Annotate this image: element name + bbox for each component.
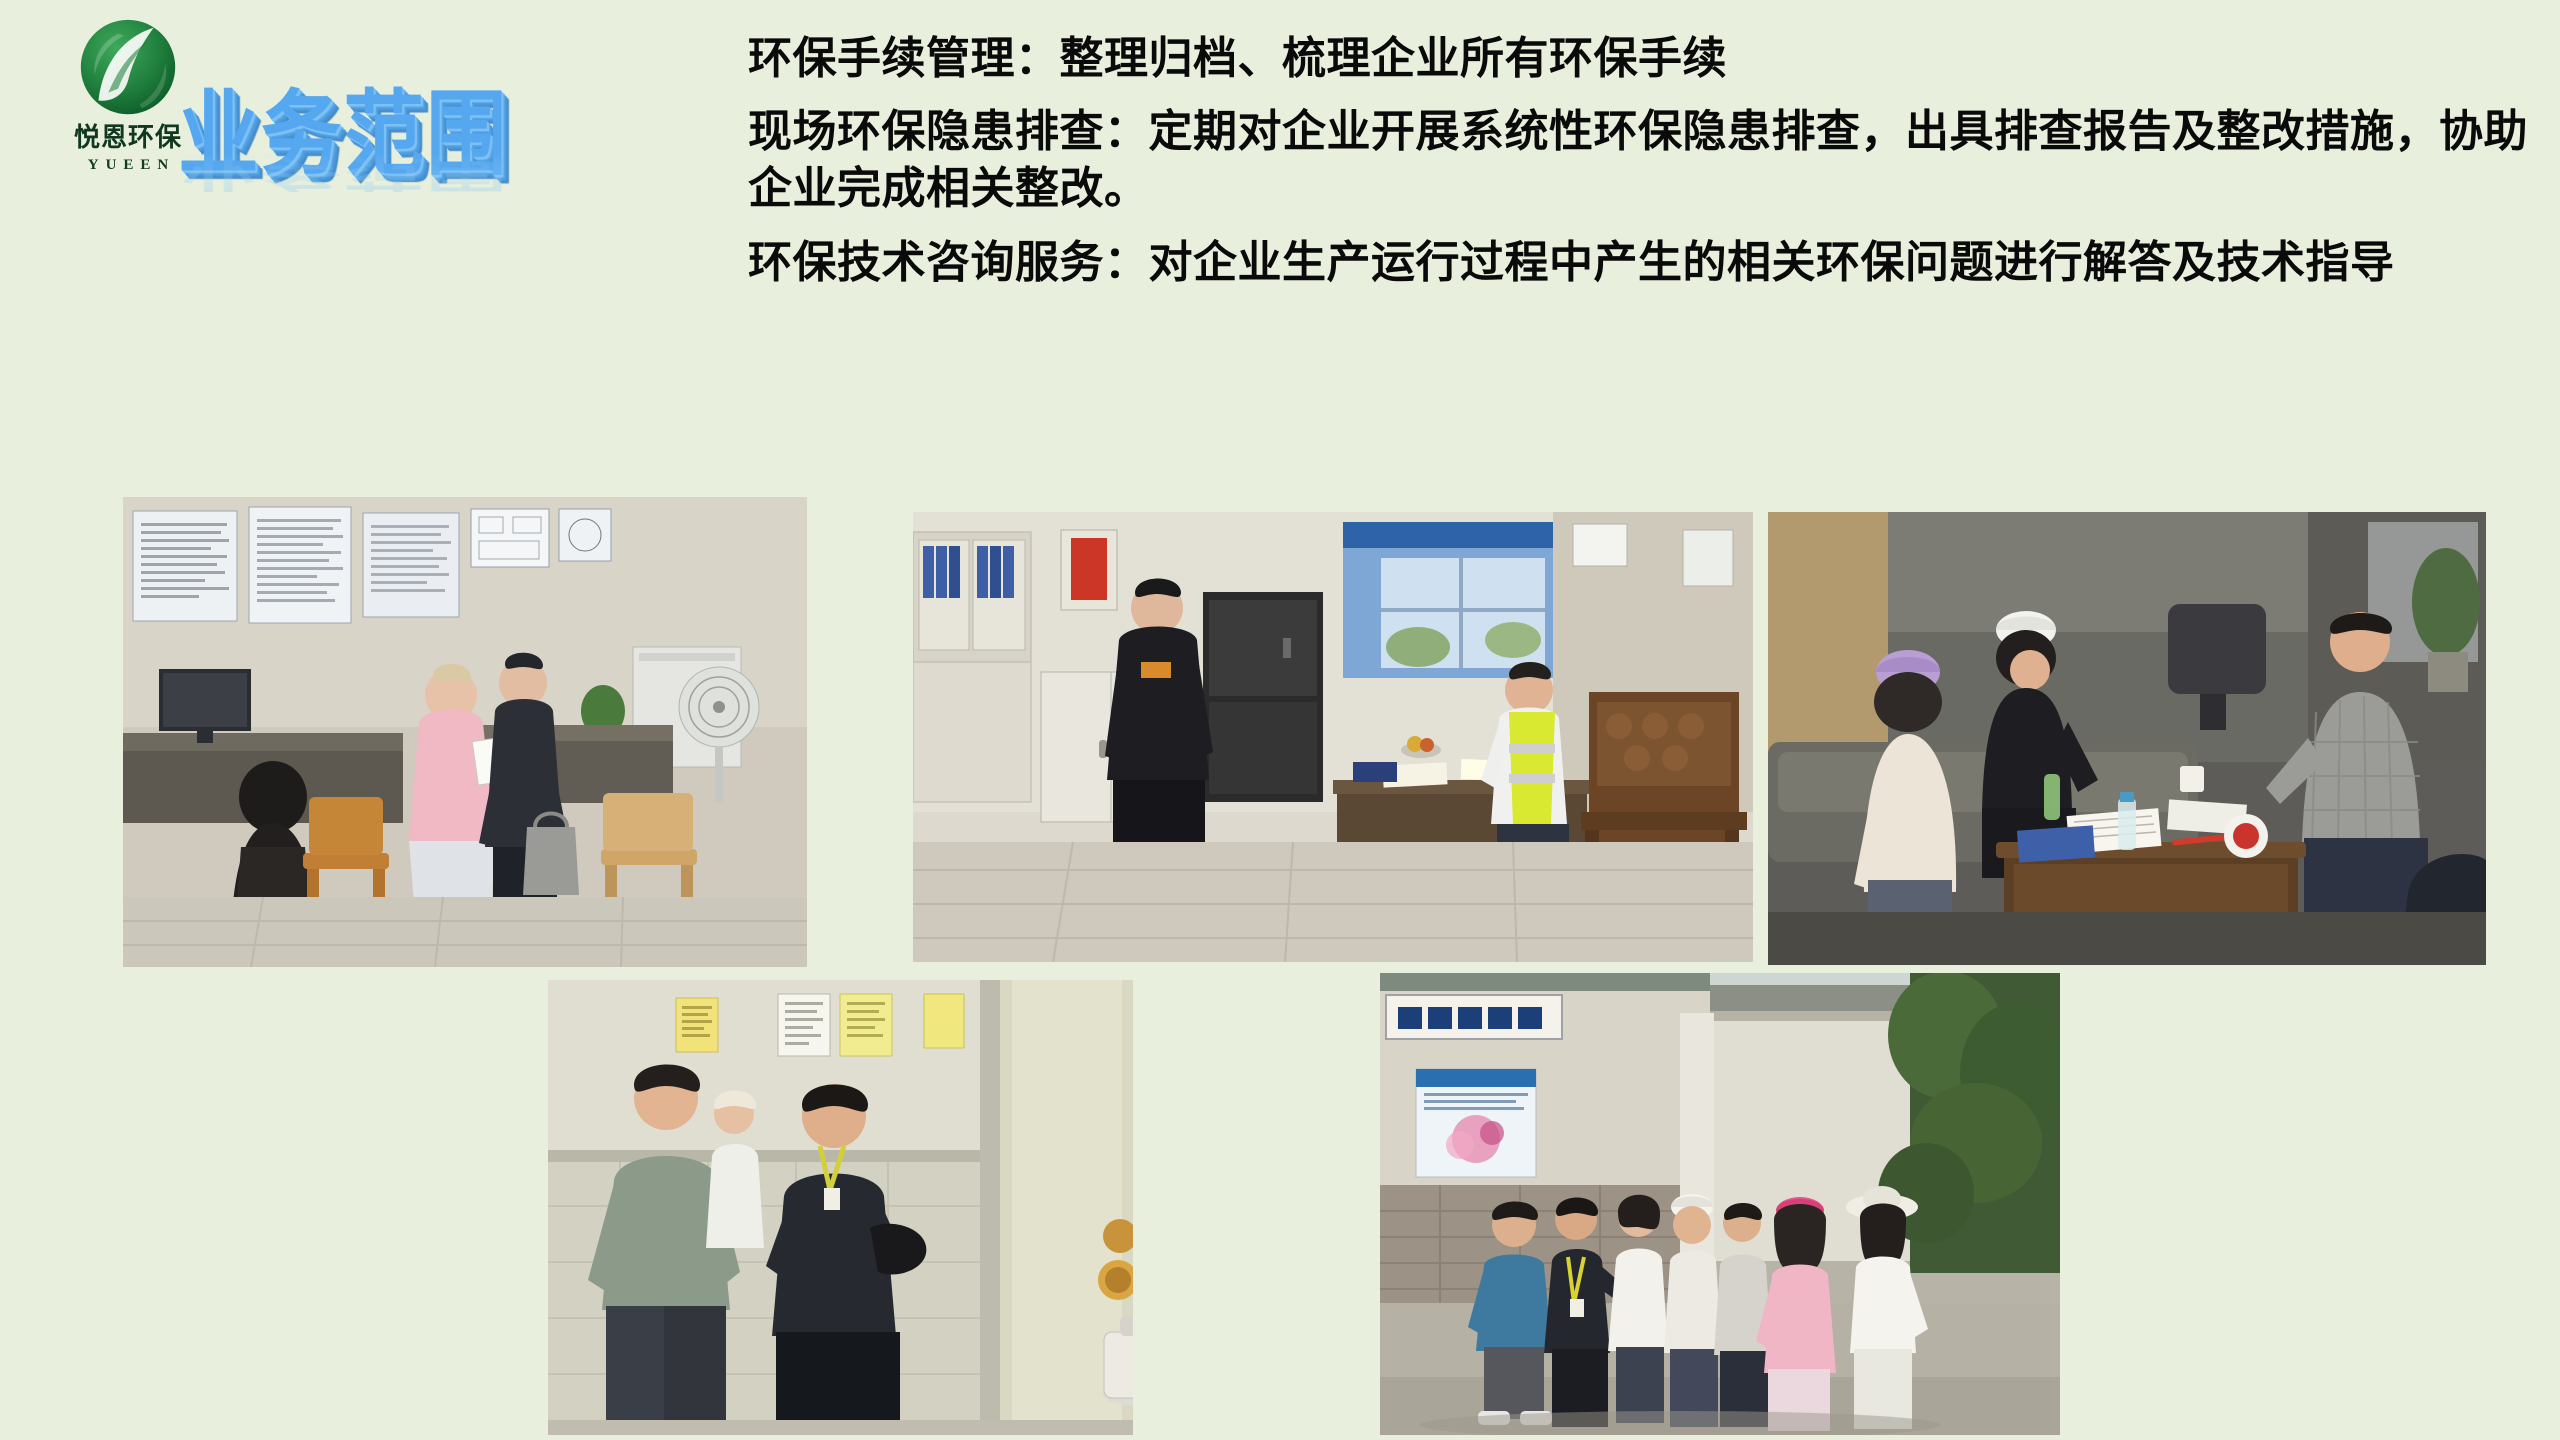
photo-meeting-discussion — [1768, 512, 2486, 965]
photo-bathroom-facility-check — [548, 980, 1133, 1435]
photo-site-inspection — [913, 512, 1753, 962]
photo-meeting-discussion-image — [1768, 512, 2486, 965]
photo-site-inspection-image — [913, 512, 1753, 962]
photo-bathroom-facility-check-image — [548, 980, 1133, 1435]
content-paragraphs: 环保手续管理：整理归档、梳理企业所有环保手续 现场环保隐患排查：定期对企业开展系… — [748, 30, 2538, 307]
paragraph-3: 环保技术咨询服务：对企业生产运行过程中产生的相关环保问题进行解答及技术指导 — [748, 234, 2538, 291]
page-title-reflection: 业务范围 — [178, 150, 509, 192]
photo-office-consultation-image — [123, 497, 807, 967]
photo-wastewater-station-visit — [1380, 973, 2060, 1435]
photo-office-consultation — [123, 497, 807, 967]
slide-canvas: 悦恩环保 YUEEN 业务范围 业务范围 环保手续管理：整理归档、梳理企业所有环… — [0, 0, 2560, 1440]
slide-title-block: 业务范围 业务范围 — [178, 88, 608, 268]
paragraph-2: 现场环保隐患排查：定期对企业开展系统性环保隐患排查，出具排查报告及整改措施，协助… — [748, 103, 2538, 217]
paragraph-1: 环保手续管理：整理归档、梳理企业所有环保手续 — [748, 30, 2538, 87]
leaf-globe-logo-icon — [69, 10, 187, 128]
photo-wastewater-station-visit-image — [1380, 973, 2060, 1435]
